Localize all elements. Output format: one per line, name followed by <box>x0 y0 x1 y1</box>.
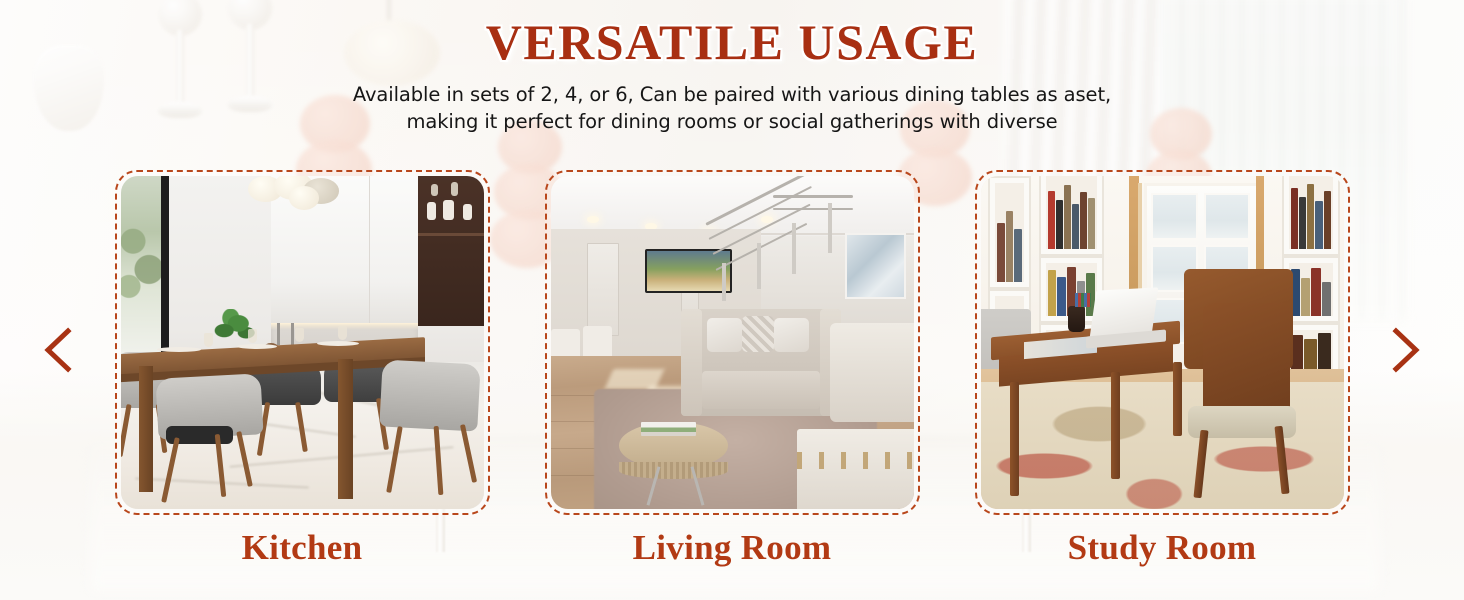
bookshelf <box>988 176 1032 289</box>
chevron-left-icon <box>38 323 82 377</box>
page-subtitle: Available in sets of 2, 4, or 6, Can be … <box>0 81 1464 136</box>
subtitle-line-1: Available in sets of 2, 4, or 6, Can be … <box>0 81 1464 109</box>
scene-card-list <box>0 170 1464 515</box>
carousel-next-button[interactable] <box>1382 323 1426 377</box>
study-room-photo <box>981 176 1344 509</box>
dining-chair <box>157 376 266 503</box>
wooden-armchair <box>1177 303 1322 503</box>
armchair <box>830 323 914 423</box>
label-living-room: Living Room <box>545 528 920 568</box>
subtitle-line-2: making it perfect for dining rooms or so… <box>0 108 1464 136</box>
books-on-table <box>641 422 695 435</box>
page-title: VERSATILE USAGE <box>0 16 1464 69</box>
kitchen-photo <box>121 176 484 509</box>
pen-cup <box>1075 293 1091 307</box>
carousel-prev-button[interactable] <box>38 323 82 377</box>
living-room-photo <box>551 176 914 509</box>
dining-chair <box>375 362 484 495</box>
bookshelf <box>1039 176 1104 256</box>
label-study-room: Study Room <box>975 528 1350 568</box>
staircase <box>703 193 863 320</box>
bookshelf <box>1282 176 1340 256</box>
label-kitchen: Kitchen <box>115 528 490 568</box>
scene-card-study-room[interactable] <box>975 170 1350 515</box>
scene-label-list: Kitchen Living Room Study Room <box>0 528 1464 568</box>
chevron-right-icon <box>1382 323 1426 377</box>
sofa <box>681 309 841 416</box>
versatile-usage-banner: VERSATILE USAGE Available in sets of 2, … <box>0 0 1464 600</box>
scene-card-living-room[interactable] <box>545 170 920 515</box>
scene-card-kitchen[interactable] <box>115 170 490 515</box>
banner-header: VERSATILE USAGE Available in sets of 2, … <box>0 16 1464 136</box>
desk-organizer <box>1068 306 1085 332</box>
laptop <box>1090 288 1158 338</box>
